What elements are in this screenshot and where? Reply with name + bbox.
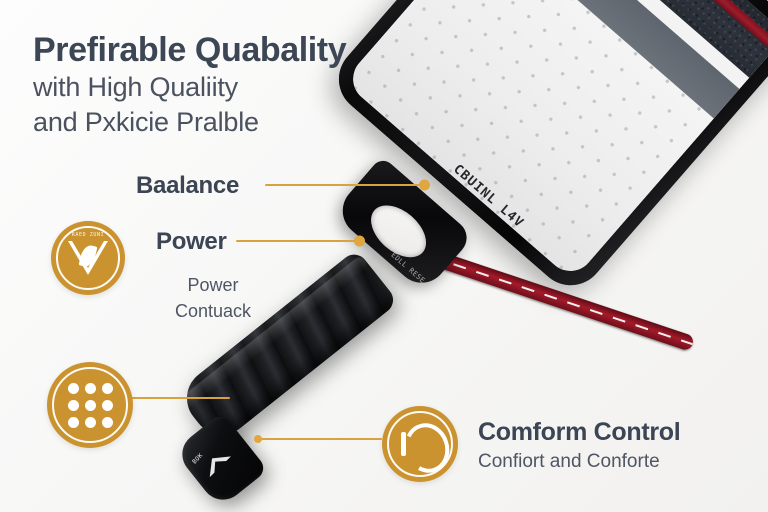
paddle-throat xyxy=(332,156,474,293)
badge-microtext: RAED ZUNI xyxy=(51,232,125,238)
paddle-white-line xyxy=(509,0,749,90)
paddle-gray-band xyxy=(482,0,739,121)
callout-power-label: Power xyxy=(156,228,227,256)
paddle-texture-speckle xyxy=(510,0,768,89)
triangle-feather-icon xyxy=(68,241,108,275)
butt-cap-text: BOK xyxy=(191,452,204,466)
quality-badge[interactable]: RAED ZUNI xyxy=(51,221,125,295)
callout-power[interactable]: Power xyxy=(156,228,227,256)
infographic-canvas: CBUINL L4V EDLL RESE BOK Prefirable Quab… xyxy=(0,0,768,512)
callout-balance[interactable]: Baalance xyxy=(136,172,239,200)
leader-dot-balance xyxy=(419,179,430,190)
leader-dot-power xyxy=(354,235,365,246)
callout-power-desc-line-2: Contuack xyxy=(143,298,283,324)
crescent-icon xyxy=(399,423,441,465)
paddle-chevron-graphic xyxy=(581,0,768,189)
paddle-face-branding: CBUINL L4V xyxy=(450,162,526,231)
leader-line-power xyxy=(236,240,360,242)
callout-comfort-desc: Confiort and Conforte xyxy=(478,449,680,475)
paddle-red-stripe xyxy=(543,0,768,51)
callout-power-description: Power Contuack xyxy=(143,272,283,324)
leader-line-comfort xyxy=(257,438,382,440)
leader-line-holes xyxy=(130,397,230,399)
callout-power-desc-line-1: Power xyxy=(143,272,283,298)
page-subtitle-line-2: and Pxkicie Pralble xyxy=(33,106,453,139)
paddle-throat-branding: EDLL RESE xyxy=(389,251,426,285)
callout-balance-label: Baalance xyxy=(136,172,239,200)
callout-comfort-label: Comform Control xyxy=(478,418,680,447)
page-subtitle-line-1: with High Qualiity xyxy=(33,71,453,104)
page-title-block: Prefirable Quabality with High Qualiity … xyxy=(33,31,453,139)
page-title: Prefirable Quabality xyxy=(33,31,453,69)
paddle-chevron-outline xyxy=(616,0,768,172)
paddle-butt-cap: BOK xyxy=(173,412,268,509)
comfort-badge[interactable] xyxy=(382,406,458,482)
paddle-throat-opening xyxy=(361,195,436,267)
callout-comfort[interactable]: Comform Control Confiort and Conforte xyxy=(478,418,680,475)
leader-dot-comfort xyxy=(254,435,262,443)
butt-cap-logo-icon xyxy=(201,448,231,478)
paddle-navy-band xyxy=(519,0,768,78)
holes-badge[interactable] xyxy=(47,362,133,448)
leader-line-balance xyxy=(265,184,425,186)
paddle-red-edge-accent xyxy=(405,241,695,351)
badge-ring xyxy=(52,367,128,443)
